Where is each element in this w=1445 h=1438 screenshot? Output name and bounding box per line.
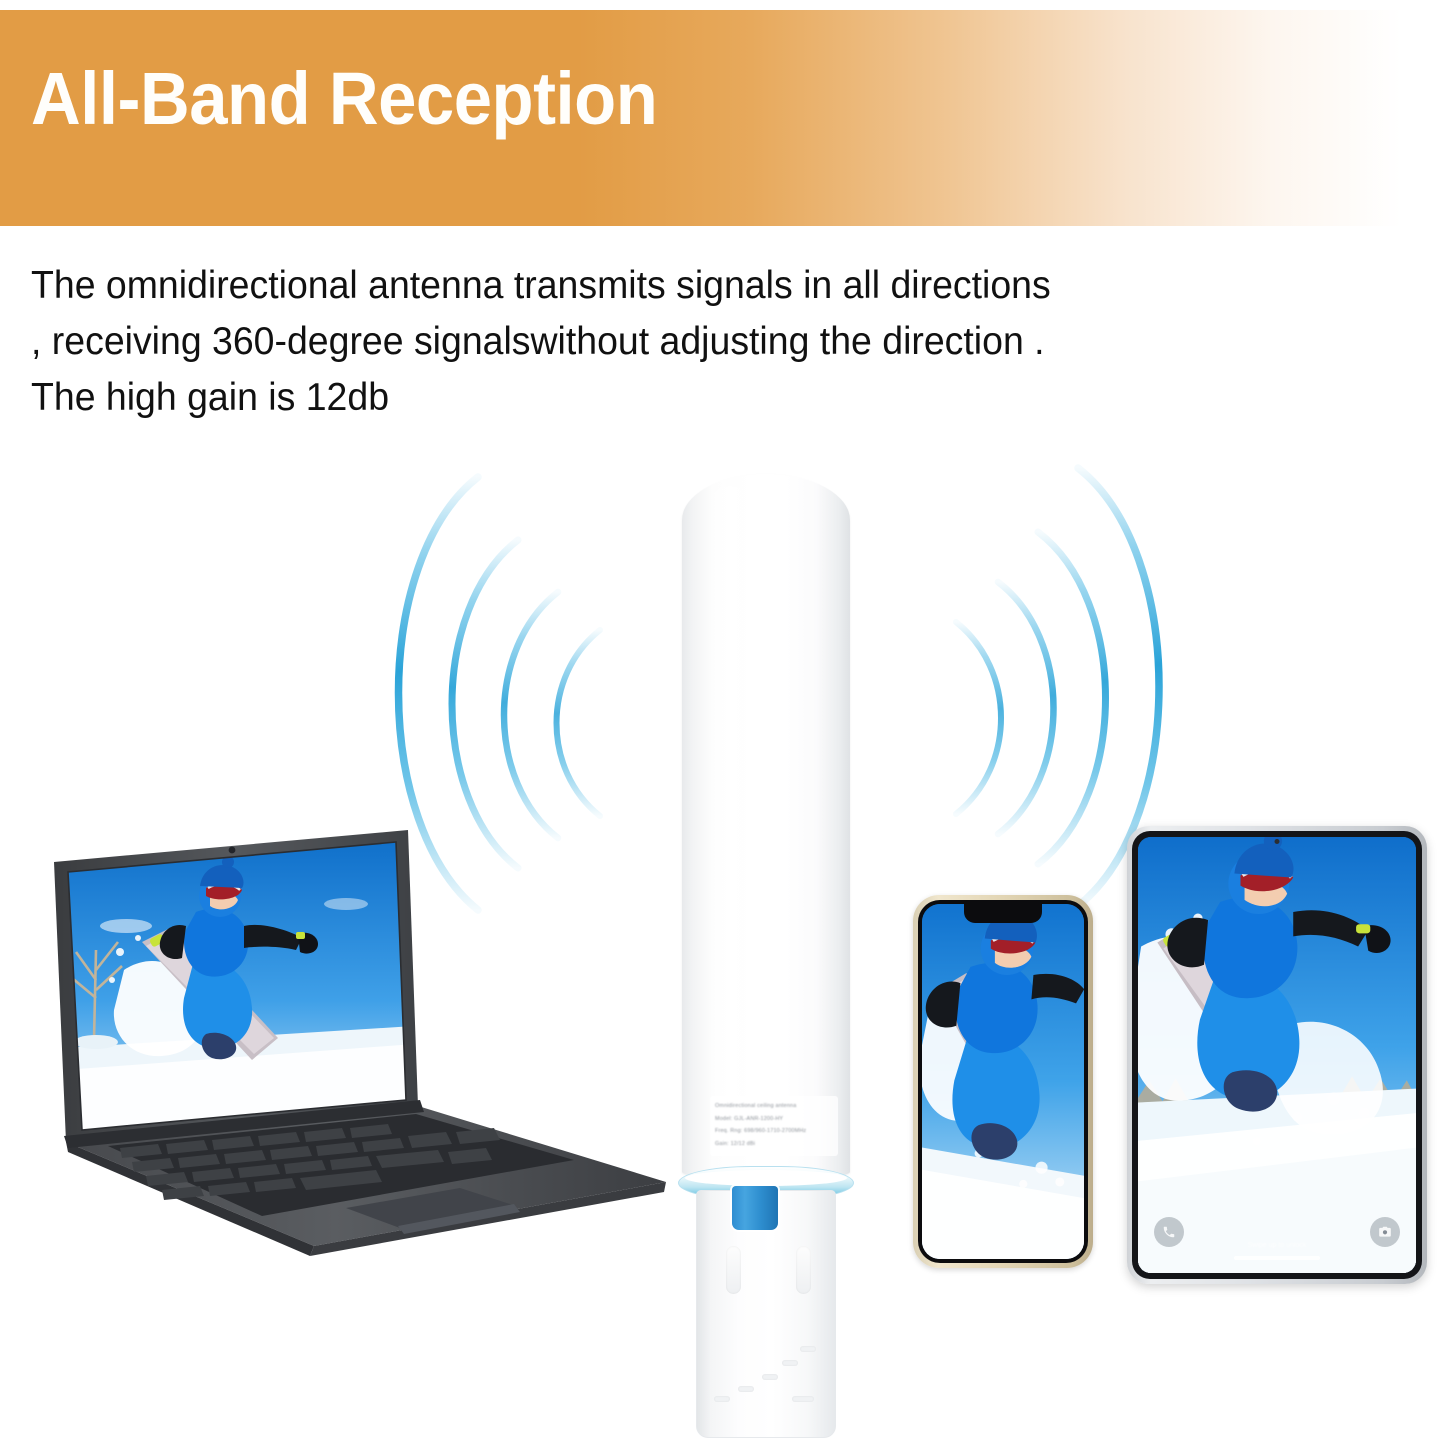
phone-icon bbox=[1162, 1225, 1176, 1239]
smartphone-frame bbox=[918, 900, 1088, 1263]
front-camera-icon bbox=[1275, 839, 1280, 844]
bracket-slot-right bbox=[796, 1246, 811, 1294]
antenna-spec-label: Omnidirectional ceiling antenna Model: G… bbox=[710, 1096, 838, 1156]
description-text: The omnidirectional antenna transmits si… bbox=[31, 258, 1308, 426]
lockscreen-hint: Swipe up to unlock bbox=[1248, 1242, 1307, 1249]
bracket-vent-5 bbox=[800, 1346, 816, 1352]
description-line-1: The omnidirectional antenna transmits si… bbox=[31, 258, 1308, 314]
antenna-radome: Omnidirectional ceiling antenna Model: G… bbox=[682, 474, 850, 1180]
antenna-connector-nut bbox=[732, 1186, 778, 1230]
bracket-slot-left bbox=[726, 1246, 741, 1294]
description-line-3: The high gain is 12db bbox=[31, 370, 1308, 426]
smartphone-notch bbox=[964, 904, 1042, 923]
smartphone-screen bbox=[922, 904, 1084, 1259]
tablet-frame: Swipe up to unlock bbox=[1132, 831, 1422, 1279]
smartphone bbox=[913, 895, 1093, 1268]
smartphone-wallpaper bbox=[922, 904, 1084, 1259]
page-title: All-Band Reception bbox=[31, 62, 657, 136]
bracket-vent-2 bbox=[738, 1386, 754, 1392]
bracket-vent-1 bbox=[714, 1396, 730, 1402]
bracket-vent-3 bbox=[762, 1374, 778, 1380]
tablet: Swipe up to unlock bbox=[1127, 826, 1427, 1284]
signal-arc-right-4 bbox=[956, 622, 1001, 814]
tablet-wallpaper bbox=[1138, 837, 1416, 1273]
webcam-icon bbox=[229, 847, 236, 854]
laptop bbox=[46, 830, 686, 1310]
description-line-2: , receiving 360-degree signalswithout ad… bbox=[31, 314, 1308, 370]
antenna: Omnidirectional ceiling antenna Model: G… bbox=[676, 474, 856, 1434]
signal-arc-right-2 bbox=[1038, 532, 1106, 864]
antenna-label-line-2: Model: GJL-ANR-1200-HY bbox=[710, 1113, 838, 1126]
signal-arc-left-2 bbox=[452, 540, 518, 868]
signal-arc-left-4 bbox=[557, 630, 601, 816]
bracket-vent-4 bbox=[782, 1360, 798, 1366]
lockscreen-phone-shortcut[interactable] bbox=[1154, 1217, 1184, 1247]
tablet-screen: Swipe up to unlock bbox=[1138, 837, 1416, 1273]
antenna-label-line-1: Omnidirectional ceiling antenna bbox=[710, 1100, 838, 1113]
camera-icon bbox=[1378, 1225, 1392, 1239]
laptop-screen bbox=[64, 838, 414, 1134]
bracket-vent-6 bbox=[792, 1396, 814, 1402]
signal-arc-left-3 bbox=[504, 592, 558, 838]
antenna-label-line-4: Gain: 12/12 dBi bbox=[710, 1138, 838, 1151]
antenna-label-line-3: Freq. Rng: 698/960-1710-2700MHz bbox=[710, 1125, 838, 1138]
product-illustration: Omnidirectional ceiling antenna Model: G… bbox=[0, 440, 1445, 1400]
antenna-highlight bbox=[708, 486, 752, 1146]
signal-arc-right-3 bbox=[998, 582, 1054, 834]
home-indicator[interactable] bbox=[1234, 1256, 1320, 1260]
lockscreen-camera-shortcut[interactable] bbox=[1370, 1217, 1400, 1247]
